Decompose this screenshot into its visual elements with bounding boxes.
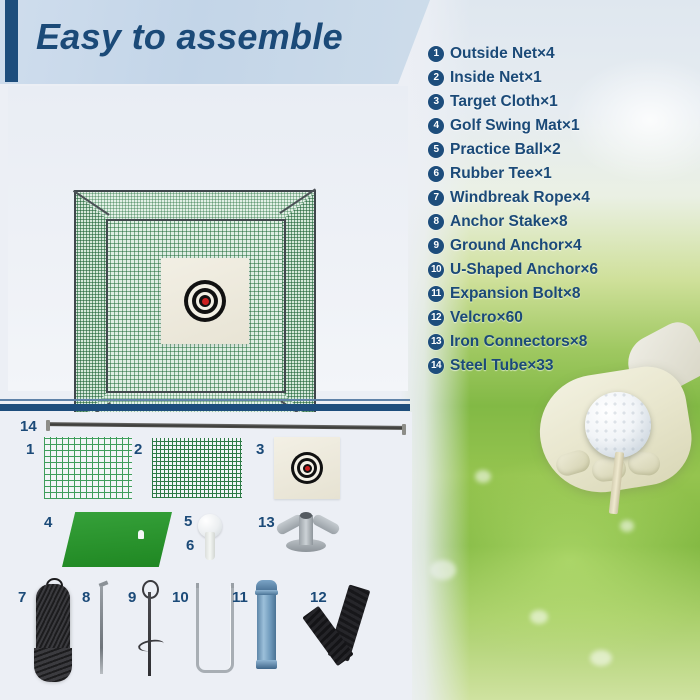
list-badge: 4 (428, 118, 444, 134)
u-shaped-anchor-photo (196, 586, 234, 673)
list-item: 3 Target Cloth×1 (428, 90, 694, 114)
frame-right-post (314, 190, 316, 426)
part-number-10: 10 (172, 589, 189, 606)
list-item: 13 Iron Connectors×8 (428, 330, 694, 354)
expansion-bolt-foot (256, 660, 277, 669)
divider-thin-line (0, 399, 410, 401)
iron-connector-stem (299, 515, 313, 545)
steel-tube-cap (46, 420, 50, 431)
bokeh-dot (590, 650, 612, 666)
list-item: 14 Steel Tube×33 (428, 354, 694, 378)
part-number-12: 12 (310, 589, 327, 606)
list-item-label: Windbreak Rope×4 (450, 189, 590, 207)
part-number-3: 3 (256, 441, 264, 458)
list-item: 11 Expansion Bolt×8 (428, 282, 694, 306)
expansion-bolt-photo (257, 592, 276, 666)
swing-mat-tee (138, 530, 144, 539)
part-number-14: 14 (20, 418, 37, 435)
list-badge: 13 (428, 334, 444, 350)
frame-back-bottom (106, 391, 286, 393)
frame-back-top (106, 219, 286, 221)
rubber-tee-photo (205, 532, 215, 560)
list-badge: 10 (428, 262, 444, 278)
list-badge: 1 (428, 46, 444, 62)
list-badge: 2 (428, 70, 444, 86)
part-number-4: 4 (44, 514, 52, 531)
list-badge: 8 (428, 214, 444, 230)
frame-left-post (74, 190, 76, 426)
part-number-1: 1 (26, 441, 34, 458)
list-item: 10 U-Shaped Anchor×6 (428, 258, 694, 282)
infographic-page: Easy to assemble (0, 0, 700, 700)
anchor-stake-photo (100, 586, 103, 674)
list-badge: 11 (428, 286, 444, 302)
list-item: 8 Anchor Stake×8 (428, 210, 694, 234)
outside-net-photo (44, 437, 132, 499)
target-bullseye (305, 466, 310, 471)
expansion-bolt-nut (255, 590, 278, 595)
bokeh-dot (475, 470, 491, 483)
list-item: 1 Outside Net×4 (428, 42, 694, 66)
list-badge: 3 (428, 94, 444, 110)
list-item-label: Expansion Bolt×8 (450, 285, 581, 303)
list-item-label: Anchor Stake×8 (450, 213, 568, 231)
part-number-7: 7 (18, 589, 26, 606)
parts-list: 1 Outside Net×4 2 Inside Net×1 3 Target … (428, 42, 694, 378)
list-item-label: Velcro×60 (450, 309, 523, 327)
list-item-label: Iron Connectors×8 (450, 333, 587, 351)
part-number-8: 8 (82, 589, 90, 606)
target-cloth (161, 258, 249, 344)
list-item: 5 Practice Ball×2 (428, 138, 694, 162)
frame-top-bar (74, 190, 316, 192)
net-panel-right (282, 192, 316, 424)
part-number-13: 13 (258, 514, 275, 531)
list-item-label: Practice Ball×2 (450, 141, 561, 159)
list-item-label: Steel Tube×33 (450, 357, 554, 375)
golf-swing-mat-photo (62, 512, 172, 567)
target-bullseye (202, 298, 209, 305)
list-item: 9 Ground Anchor×4 (428, 234, 694, 258)
part-number-2: 2 (134, 441, 142, 458)
list-item: 7 Windbreak Rope×4 (428, 186, 694, 210)
list-item-label: Ground Anchor×4 (450, 237, 582, 255)
ground-anchor-photo (148, 592, 151, 676)
main-product-illustration (8, 86, 408, 391)
target-cloth-photo (274, 437, 340, 499)
list-item-label: Inside Net×1 (450, 69, 542, 87)
part-number-6: 6 (186, 537, 194, 554)
list-item-label: U-Shaped Anchor×6 (450, 261, 598, 279)
bokeh-dot (620, 520, 634, 532)
header-accent-bar (5, 0, 18, 82)
list-badge: 14 (428, 358, 444, 374)
part-number-5: 5 (184, 513, 192, 530)
list-item: 4 Golf Swing Mat×1 (428, 114, 694, 138)
bokeh-dot (530, 610, 548, 624)
list-item-label: Golf Swing Mat×1 (450, 117, 580, 135)
iron-connector-hole (300, 512, 312, 519)
golf-ball-dimples (585, 392, 651, 458)
part-number-9: 9 (128, 589, 136, 606)
rope-tail (34, 648, 72, 682)
frame-back-left (106, 219, 108, 393)
part-number-11: 11 (232, 589, 248, 606)
list-badge: 6 (428, 166, 444, 182)
list-badge: 7 (428, 190, 444, 206)
list-badge: 12 (428, 310, 444, 326)
divider-thick-bar (0, 404, 410, 411)
list-item-label: Outside Net×4 (450, 45, 555, 63)
list-badge: 5 (428, 142, 444, 158)
frame-back-right (284, 219, 286, 393)
list-item-label: Target Cloth×1 (450, 93, 558, 111)
net-panel-left (74, 192, 108, 424)
list-item: 6 Rubber Tee×1 (428, 162, 694, 186)
list-item: 2 Inside Net×1 (428, 66, 694, 90)
steel-tube-cap (402, 424, 406, 435)
page-title: Easy to assemble (36, 16, 343, 58)
list-badge: 9 (428, 238, 444, 254)
list-item-label: Rubber Tee×1 (450, 165, 552, 183)
inside-net-photo (152, 438, 242, 498)
list-item: 12 Velcro×60 (428, 306, 694, 330)
